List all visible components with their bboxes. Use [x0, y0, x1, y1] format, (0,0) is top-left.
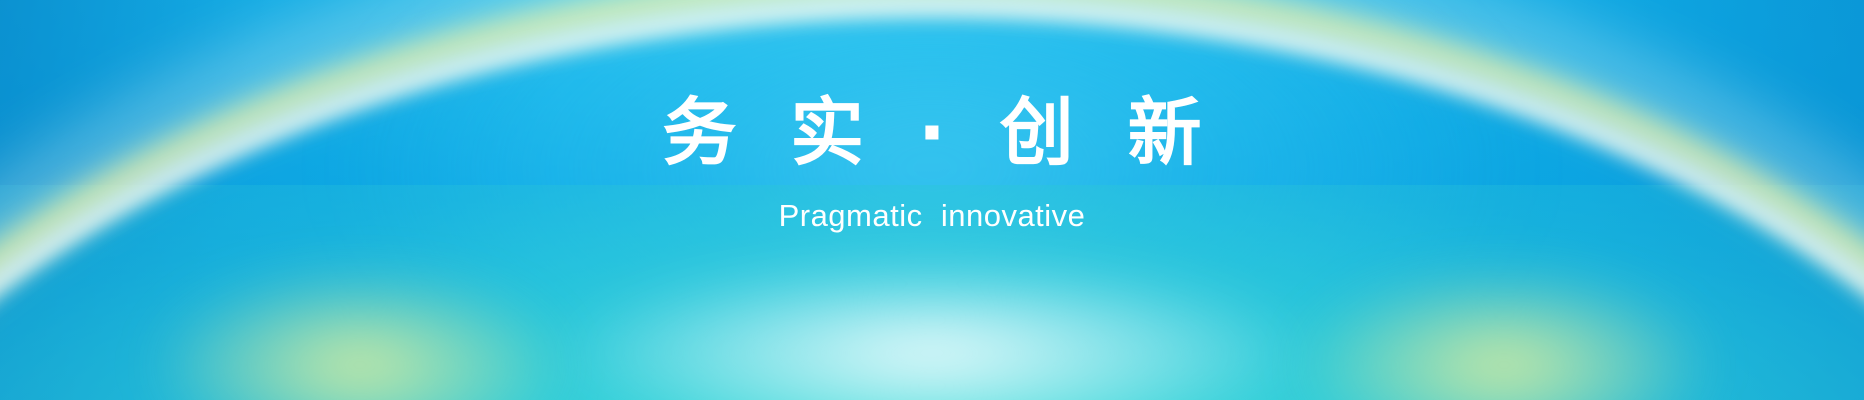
hero-banner: 务 实 · 创 新 Pragmatic innovative: [0, 0, 1864, 400]
banner-content: 务 实 · 创 新 Pragmatic innovative: [0, 0, 1864, 400]
banner-headline: 务 实 · 创 新: [648, 96, 1215, 170]
banner-subheadline: Pragmatic innovative: [779, 200, 1086, 231]
